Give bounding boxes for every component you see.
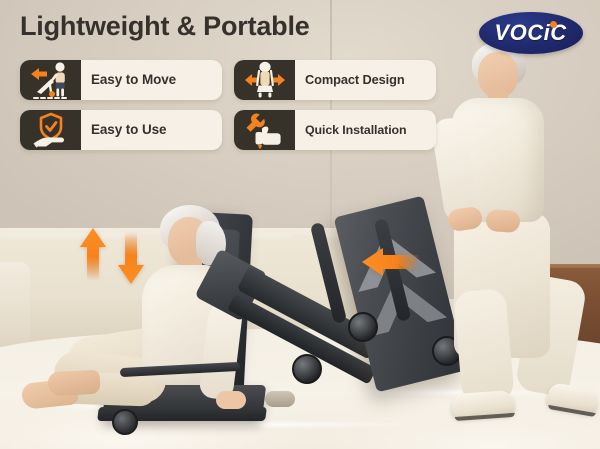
- treadmill-roller: [265, 391, 295, 407]
- seated-woman-foot: [47, 370, 100, 397]
- feature-label: Compact Design: [295, 60, 415, 100]
- feature-label: Easy to Use: [81, 110, 176, 150]
- walking-woman-hand: [485, 209, 520, 233]
- feature-label: Quick Installation: [295, 110, 416, 150]
- person-pushing-treadmill-icon: [29, 60, 73, 100]
- feature-card-easy-to-move[interactable]: Easy to Move: [20, 60, 222, 100]
- seated-woman-hand: [216, 391, 246, 409]
- logo-wordmark: VOCiC: [479, 12, 583, 54]
- arrow-up-indicator: [80, 228, 106, 280]
- folded-treadmill-icon: [243, 60, 287, 100]
- slipper: [546, 382, 599, 414]
- icon-container: [20, 60, 81, 100]
- icon-container: [20, 110, 81, 150]
- brand-logo: VOCiC: [479, 12, 583, 54]
- icon-container: [234, 60, 295, 100]
- shield-check-on-hand-icon: [29, 110, 73, 150]
- arrow-left-indicator: [362, 248, 420, 276]
- arrow-down-indicator: [118, 232, 144, 284]
- feature-card-quick-installation[interactable]: Quick Installation: [234, 110, 436, 150]
- treadmill-wheel: [112, 409, 138, 435]
- slipper: [451, 390, 515, 418]
- feature-row-2: Easy to Use Quick Installation: [20, 110, 436, 150]
- icon-container: [234, 110, 295, 150]
- feature-card-grid: Easy to Move: [20, 60, 436, 150]
- feature-row-1: Easy to Move: [20, 60, 436, 100]
- walking-woman-front-leg: [453, 288, 515, 404]
- logo-orange-dot-icon: [550, 21, 557, 28]
- feature-label: Easy to Move: [81, 60, 186, 100]
- treadmill-wheel: [348, 312, 378, 342]
- product-feature-banner: Lightweight & Portable VOCiC: [0, 0, 600, 449]
- feature-card-easy-to-use[interactable]: Easy to Use: [20, 110, 222, 150]
- page-title: Lightweight & Portable: [20, 12, 310, 42]
- treadmill-wheel: [292, 354, 322, 384]
- wrench-thumbs-up-icon: [243, 110, 287, 150]
- feature-card-compact-design[interactable]: Compact Design: [234, 60, 436, 100]
